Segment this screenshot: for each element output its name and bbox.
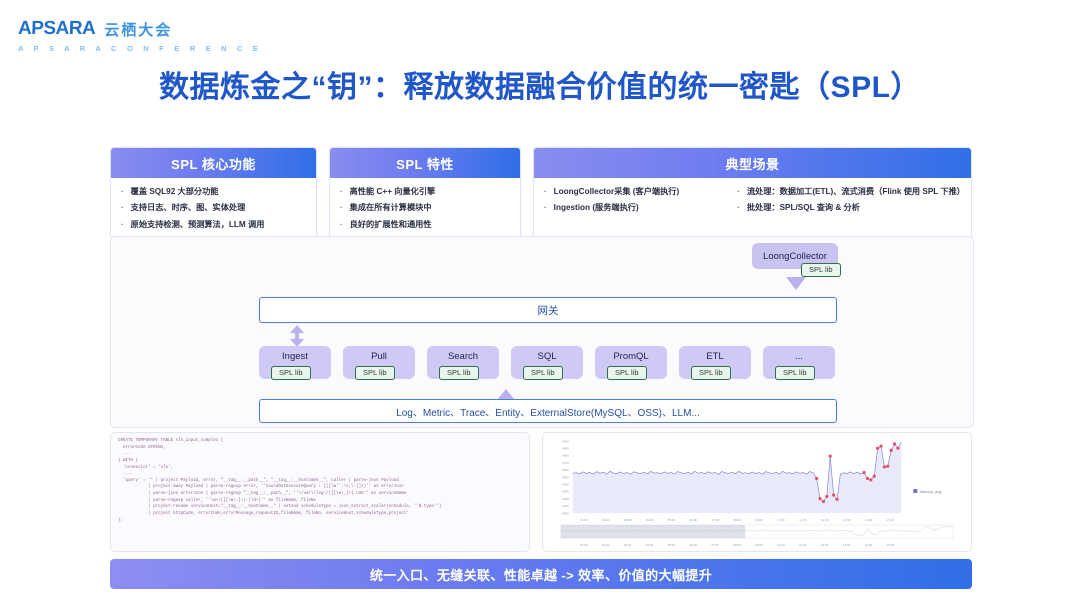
node-gateway: 网关 — [259, 297, 837, 323]
chart-x-tick-label: 13:00 — [843, 543, 851, 547]
chart-x-tick-label: 08:00 — [733, 518, 741, 522]
chart-x-tick-label: 07:00 — [711, 518, 719, 522]
chart-legend-label: latency_avg — [920, 489, 941, 494]
chart-anomaly-marker — [835, 498, 838, 501]
bullet-column: · 高性能 C++ 向量化引擎 · 集成在所有计算模块中 · 良好的扩展性和通用… — [340, 187, 435, 229]
chart-x-tick-label: 03:00 — [624, 543, 632, 547]
spl-lib-badge: SPL lib — [775, 366, 815, 380]
list-item: · 支持日志、时序、图、实体处理 — [121, 203, 264, 212]
chart-x-tick-label: 15:00 — [887, 518, 895, 522]
list-item: · 良好的扩展性和通用性 — [340, 220, 435, 229]
chart-anomaly-marker — [876, 447, 879, 450]
node-search-label: Search — [448, 351, 478, 362]
list-item-label: 高性能 C++ 向量化引擎 — [350, 187, 436, 196]
brand-apsara-text: APSARA — [18, 18, 96, 40]
service-nodes: Ingest SPL lib Pull SPL lib Search SPL l… — [259, 346, 835, 379]
list-item-label: LoongCollector采集 (客户端执行) — [554, 187, 680, 196]
node-pull: Pull SPL lib — [343, 346, 415, 379]
list-item-label: 原始支持检测、预测算法，LLM 调用 — [131, 220, 265, 229]
brand-logo: APSARA 云栖大会 A P S A R A C O N F E R E N … — [18, 18, 262, 53]
chart-anomaly-marker — [832, 493, 835, 496]
list-item-label: 集成在所有计算模块中 — [350, 203, 432, 212]
spl-lib-badge-collector: SPL lib — [801, 263, 841, 277]
node-pull-label: Pull — [371, 351, 387, 362]
list-item: · 高性能 C++ 向量化引擎 — [340, 187, 435, 196]
list-item: · 批处理：SPL/SQL 查询 & 分析 — [737, 203, 965, 212]
brand-chinese-text: 云栖大会 — [104, 19, 172, 40]
list-item-label: 支持日志、时序、图、实体处理 — [131, 203, 246, 212]
brand-row: APSARA 云栖大会 — [18, 18, 262, 40]
node-sql-label: SQL — [537, 351, 556, 362]
card-heading: 典型场景 — [534, 148, 971, 178]
chart-anomaly-marker — [822, 500, 825, 503]
double-arrow-icon — [290, 325, 304, 347]
node-storage-layer: Log、Metric、Trace、Entity、ExternalStore(My… — [259, 399, 837, 423]
bottom-panels: CREATE TEMPORARY TABLE sls_input_complex… — [110, 432, 972, 552]
list-item: · LoongCollector采集 (客户端执行) — [544, 187, 733, 196]
chart-anomaly-marker — [893, 442, 896, 445]
spl-lib-badge: SPL lib — [439, 366, 479, 380]
list-item-label: 覆盖 SQL92 大部分功能 — [131, 187, 219, 196]
chart-x-tick-label: 12:00 — [821, 518, 829, 522]
chart-anomaly-marker — [825, 495, 828, 498]
list-item: · 原始支持检测、预测算法，LLM 调用 — [121, 220, 264, 229]
list-item: · 覆盖 SQL92 大部分功能 — [121, 187, 264, 196]
chart-x-tick-label: 06:00 — [690, 518, 698, 522]
chart-anomaly-marker — [896, 447, 899, 450]
slider-window-handle[interactable] — [561, 525, 745, 538]
chart-y-tick-label: 4800 — [562, 454, 569, 458]
chart-x-tick-label: 02:00 — [602, 518, 610, 522]
node-promql-label: PromQL — [613, 351, 648, 362]
card-spl-characteristics: SPL 特性 · 高性能 C++ 向量化引擎 · 集成在所有计算模块中 · 良好… — [329, 147, 521, 239]
card-heading: SPL 核心功能 — [111, 148, 316, 178]
latency-chart: 5000490048004700460045004400430042004100… — [543, 433, 971, 551]
node-loongcollector-label: LoongCollector — [763, 251, 827, 262]
code-sample-text: CREATE TEMPORARY TABLE sls_input_complex… — [118, 438, 522, 524]
chart-slider-ticks: 01:0002:0003:0004:0005:0006:0007:0008:00… — [580, 543, 894, 547]
feature-cards: SPL 核心功能 · 覆盖 SQL92 大部分功能 · 支持日志、时序、图、实体… — [110, 147, 972, 239]
card-spl-core-features: SPL 核心功能 · 覆盖 SQL92 大部分功能 · 支持日志、时序、图、实体… — [110, 147, 317, 239]
chart-x-tick-label: 03:00 — [624, 518, 632, 522]
chart-anomaly-marker — [879, 444, 882, 447]
bullet-dot-icon: · — [544, 187, 547, 196]
chart-anomaly-marker — [829, 455, 832, 458]
list-item: · Ingestion (服务端执行) — [544, 203, 733, 212]
list-item-label: Ingestion (服务端执行) — [554, 203, 639, 212]
bullet-dot-icon: · — [340, 203, 343, 212]
card-body: · 覆盖 SQL92 大部分功能 · 支持日志、时序、图、实体处理 · 原始支持… — [111, 178, 316, 238]
chart-y-tick-label: 4100 — [562, 504, 569, 508]
latency-chart-panel: 5000490048004700460045004400430042004100… — [542, 432, 972, 552]
chart-x-tick-label: 05:00 — [668, 543, 676, 547]
node-etl: ETL SPL lib — [679, 346, 751, 379]
node-ingest-label: Ingest — [282, 351, 308, 362]
spl-lib-badge: SPL lib — [607, 366, 647, 380]
bullet-dot-icon: · — [737, 187, 740, 196]
bullet-column: · LoongCollector采集 (客户端执行) · Ingestion (… — [544, 187, 733, 213]
chart-y-tick-label: 4300 — [562, 490, 569, 494]
chart-anomaly-marker — [815, 477, 818, 480]
chart-y-tick-label: 4600 — [562, 468, 569, 472]
chart-x-tick-label: 08:00 — [733, 543, 741, 547]
chart-anomaly-marker — [890, 449, 893, 452]
card-body: · 高性能 C++ 向量化引擎 · 集成在所有计算模块中 · 良好的扩展性和通用… — [330, 178, 520, 238]
spl-lib-badge: SPL lib — [355, 366, 395, 380]
card-heading: SPL 特性 — [330, 148, 520, 178]
bullet-dot-icon: · — [340, 187, 343, 196]
chart-anomaly-marker — [818, 497, 821, 500]
spl-lib-badge: SPL lib — [271, 366, 311, 380]
list-item: · 集成在所有计算模块中 — [340, 203, 435, 212]
chart-x-tick-label: 12:00 — [821, 543, 829, 547]
bullet-dot-icon: · — [544, 203, 547, 212]
spl-lib-badge: SPL lib — [691, 366, 731, 380]
chart-x-tick-label: 10:00 — [777, 518, 785, 522]
chart-anomaly-marker — [883, 465, 886, 468]
chart-anomaly-marker — [862, 471, 865, 474]
node-more: ... SPL lib — [763, 346, 835, 379]
card-typical-scenarios: 典型场景 · LoongCollector采集 (客户端执行) · Ingest… — [533, 147, 972, 239]
list-item: · 流处理：数据加工(ETL)、流式消费（Flink 使用 SPL 下推） — [737, 187, 965, 196]
card-body: · LoongCollector采集 (客户端执行) · Ingestion (… — [534, 178, 971, 222]
node-search: Search SPL lib — [427, 346, 499, 379]
node-more-label: ... — [795, 351, 803, 362]
chart-y-tick-label: 4400 — [562, 482, 569, 486]
code-sample-panel: CREATE TEMPORARY TABLE sls_input_complex… — [110, 432, 530, 552]
bullet-dot-icon: · — [121, 187, 124, 196]
chart-x-tick-label: 14:00 — [865, 543, 873, 547]
node-ingest: Ingest SPL lib — [259, 346, 331, 379]
list-item-label: 批处理：SPL/SQL 查询 & 分析 — [747, 203, 860, 212]
bullet-dot-icon: · — [121, 220, 124, 229]
node-storage-label: Log、Metric、Trace、Entity、ExternalStore(My… — [396, 404, 700, 419]
chart-x-tick-label: 04:00 — [646, 518, 654, 522]
chart-y-tick-label: 4900 — [562, 446, 569, 450]
chart-x-tick-label: 01:00 — [580, 518, 588, 522]
chart-x-tick-label: 13:00 — [843, 518, 851, 522]
spl-lib-badge: SPL lib — [523, 366, 563, 380]
node-sql: SQL SPL lib — [511, 346, 583, 379]
bullet-column: · 覆盖 SQL92 大部分功能 · 支持日志、时序、图、实体处理 · 原始支持… — [121, 187, 264, 229]
chart-y-tick-label: 4200 — [562, 497, 569, 501]
chart-anomaly-marker — [866, 477, 869, 480]
chart-x-tick-label: 05:00 — [668, 518, 676, 522]
chart-area-fill — [573, 442, 901, 513]
chart-y-tick-label: 5000 — [562, 439, 569, 443]
brand-subtitle: A P S A R A C O N F E R E N C E — [18, 44, 262, 53]
chart-y-tick-label: 4500 — [562, 475, 569, 479]
chart-anomaly-marker — [873, 475, 876, 478]
footer-banner: 统一入口、无缝关联、性能卓越 -> 效率、价值的大幅提升 — [110, 559, 972, 589]
bullet-dot-icon: · — [121, 203, 124, 212]
list-item-label: 良好的扩展性和通用性 — [350, 220, 432, 229]
bullet-dot-icon: · — [737, 203, 740, 212]
chart-x-axis-ticks: 01:0002:0003:0004:0005:0006:0007:0008:00… — [580, 518, 894, 522]
chart-y-tick-label: 4700 — [562, 461, 569, 465]
chart-x-tick-label: 09:00 — [755, 543, 763, 547]
chart-y-axis-ticks: 5000490048004700460045004400430042004100… — [562, 439, 569, 515]
chart-range-slider[interactable] — [561, 525, 953, 538]
chart-y-tick-label: 4000 — [562, 511, 569, 515]
bullet-dot-icon: · — [340, 220, 343, 229]
node-promql: PromQL SPL lib — [595, 346, 667, 379]
chart-x-tick-label: 07:00 — [711, 543, 719, 547]
page-title: 数据炼金之“钥”：释放数据融合价值的统一密匙（SPL） — [0, 62, 1080, 106]
architecture-diagram: LoongCollector SPL lib 网关 Ingest SPL lib… — [110, 236, 974, 428]
chart-x-tick-label: 06:00 — [690, 543, 698, 547]
chart-x-tick-label: 09:00 — [755, 518, 763, 522]
node-gateway-label: 网关 — [538, 303, 559, 318]
chart-x-tick-label: 11:00 — [799, 543, 807, 547]
chart-x-tick-label: 15:00 — [887, 543, 895, 547]
node-etl-label: ETL — [706, 351, 723, 362]
chart-legend: latency_avg — [913, 489, 941, 494]
chart-x-tick-label: 10:00 — [777, 543, 785, 547]
chart-x-tick-label: 04:00 — [646, 543, 654, 547]
arrow-down-icon — [786, 277, 806, 290]
chart-x-tick-label: 02:00 — [602, 543, 610, 547]
chart-legend-swatch — [913, 489, 917, 493]
chart-anomaly-marker — [869, 478, 872, 481]
chart-anomaly-marker — [886, 465, 889, 468]
chart-x-tick-label: 01:00 — [580, 543, 588, 547]
chart-x-tick-label: 14:00 — [865, 518, 873, 522]
list-item-label: 流处理：数据加工(ETL)、流式消费（Flink 使用 SPL 下推） — [747, 187, 965, 196]
chart-x-tick-label: 11:00 — [799, 518, 807, 522]
bullet-column: · 流处理：数据加工(ETL)、流式消费（Flink 使用 SPL 下推） · … — [737, 187, 965, 213]
